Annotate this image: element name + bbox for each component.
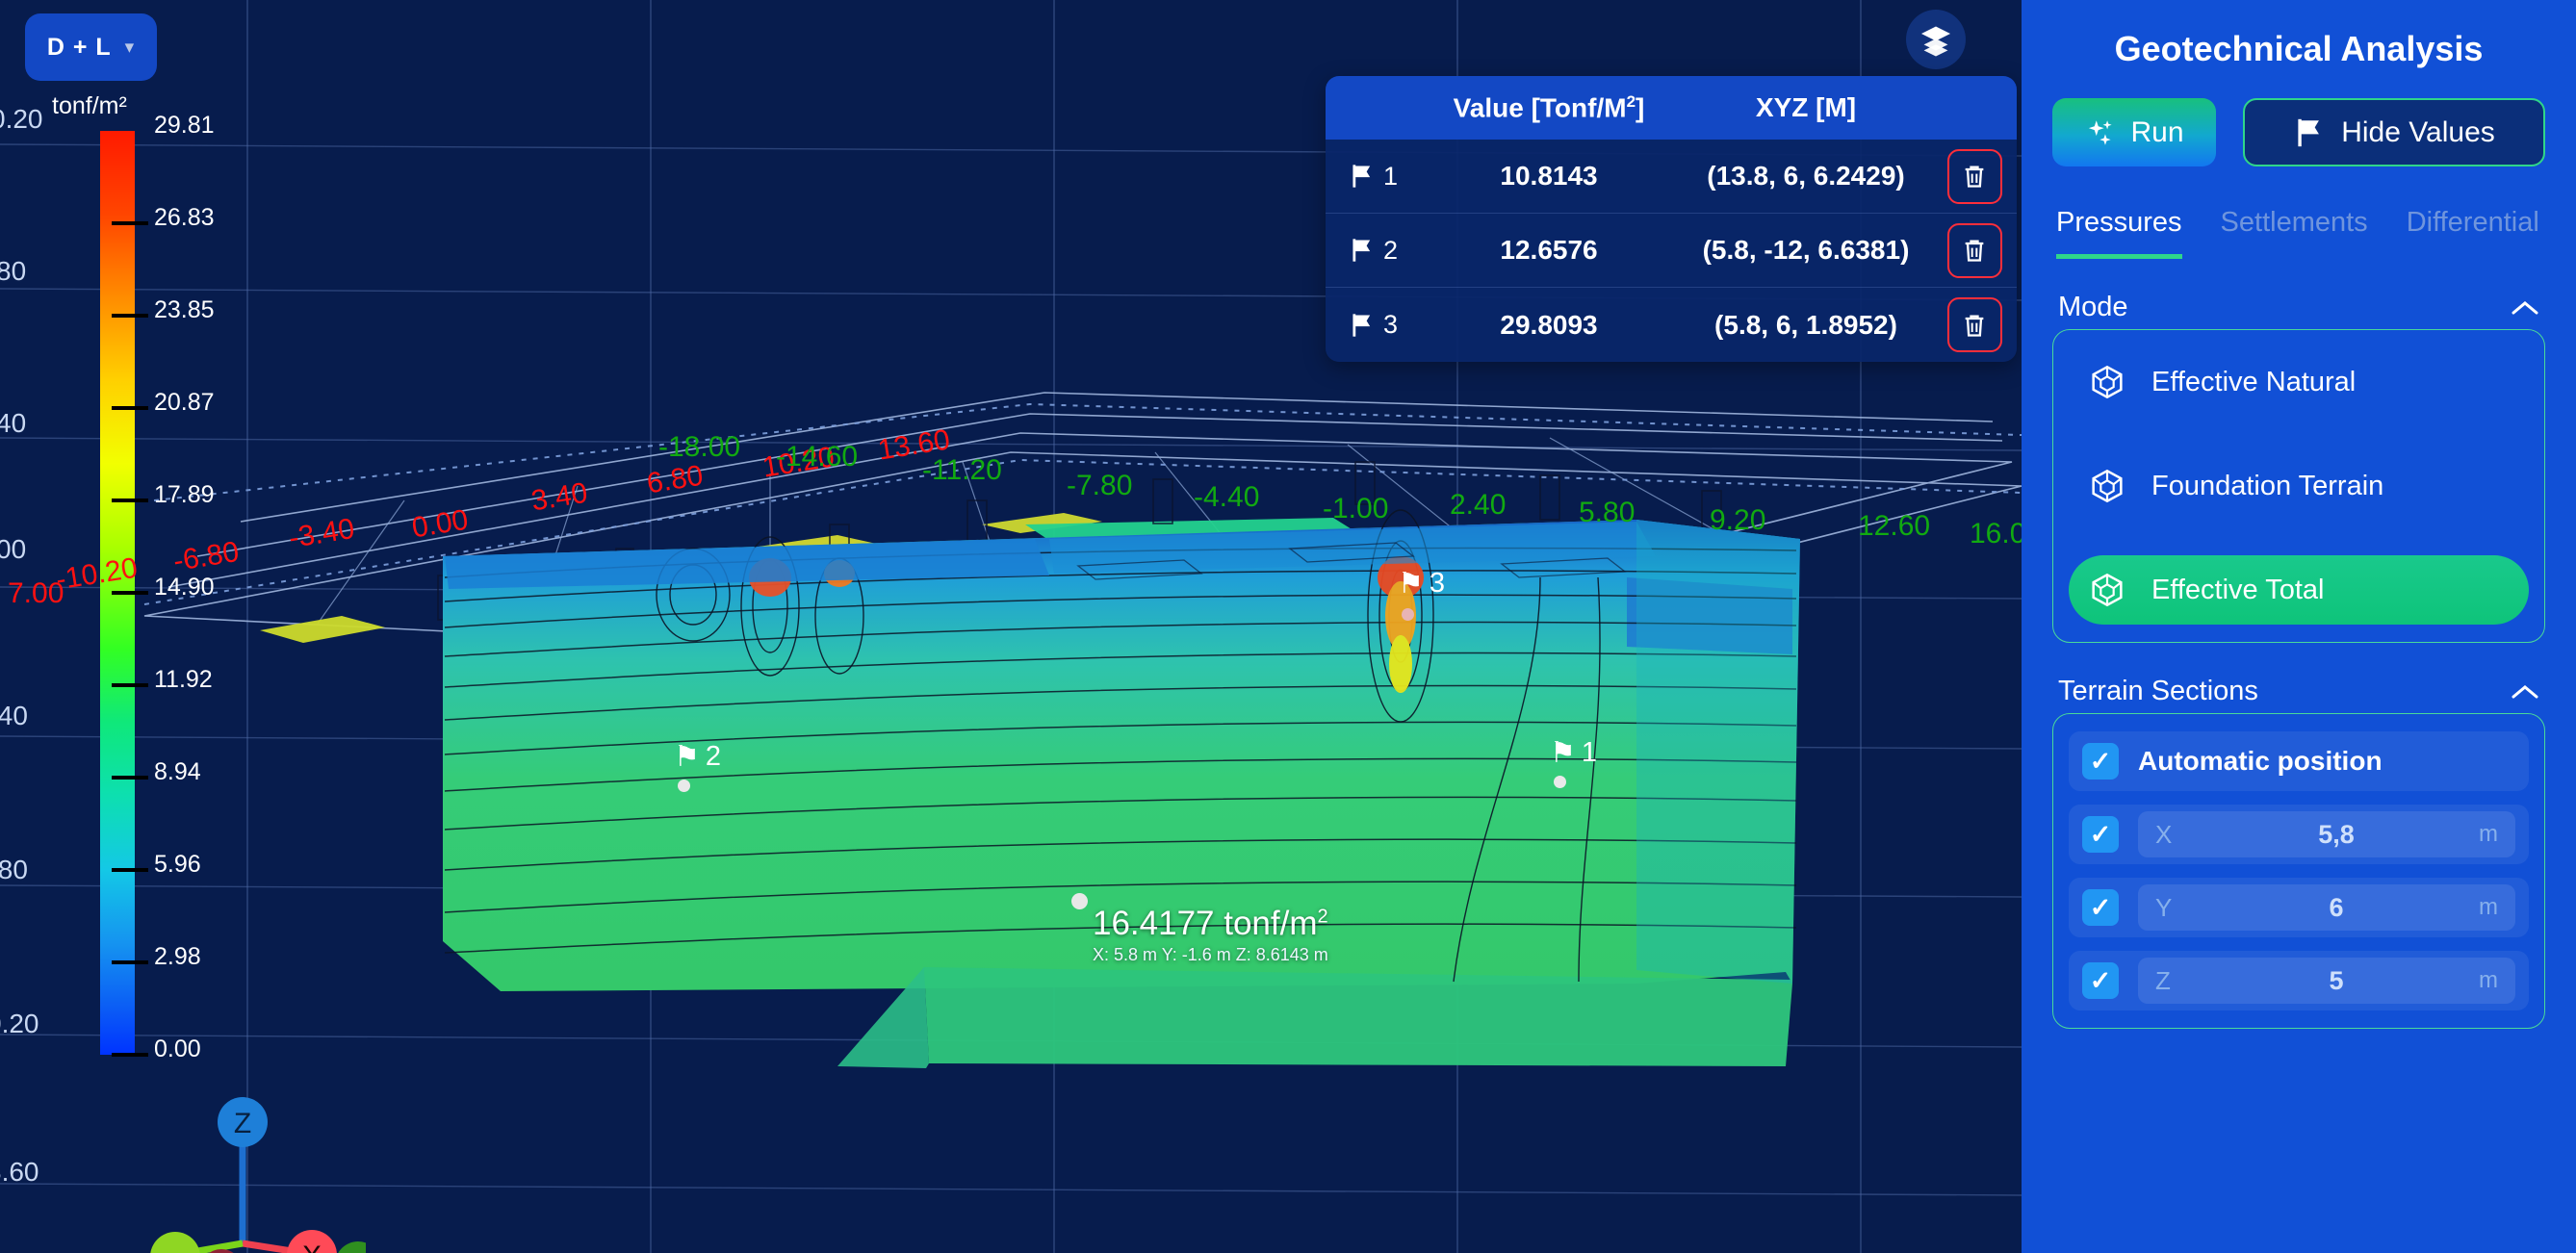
run-button-label: Run — [2130, 116, 2183, 149]
legend-tick-label: 8.94 — [154, 758, 201, 786]
axis-unit: m — [2450, 821, 2498, 848]
sidebar-panel: Geotechnical Analysis Run Hide Values Pr… — [2022, 0, 2576, 1253]
table-row[interactable]: 110.8143(13.8, 6, 6.2429) — [1326, 140, 2017, 214]
trash-icon — [1961, 312, 1988, 339]
app-root: D + L ▾ tonf/m² 29.8126.8323.8520.8717.8… — [0, 0, 2576, 1253]
delete-row-button[interactable] — [1947, 297, 2002, 352]
trash-icon — [1961, 237, 1988, 264]
legend-tick-label: 26.83 — [154, 204, 215, 232]
automatic-position-checkbox[interactable]: ✓ — [2082, 743, 2119, 780]
axis-y-tick-label: -1.00 — [1323, 493, 1388, 525]
axis-z-checkbox[interactable]: ✓ — [2082, 962, 2119, 999]
terrain-sections-header[interactable]: Terrain Sections — [2052, 676, 2545, 713]
axis-y-tick-label: 9.20 — [1710, 504, 1765, 537]
mode-option-foundation-terrain[interactable]: Foundation Terrain — [2069, 451, 2529, 521]
axis-value[interactable]: 5,8 — [2223, 820, 2450, 850]
axis-y-tick-label: -18.00 — [658, 431, 740, 464]
legend-tick-dash — [112, 683, 148, 687]
flag-icon: ⚑ — [1550, 739, 1576, 768]
row-xyz: (5.8, -12, 6.6381) — [1680, 235, 1932, 266]
scene-marker-point — [678, 780, 690, 792]
row-index: 1 — [1383, 162, 1398, 192]
color-legend: tonf/m² 29.8126.8323.8520.8717.8914.9011… — [39, 131, 231, 1093]
legend-tick-dash — [112, 314, 148, 318]
axis-z-tick-label: .40 — [0, 701, 28, 731]
mode-option-label: Effective Total — [2151, 575, 2324, 606]
axis-z-tick-label: 0.20 — [0, 1009, 39, 1039]
row-actions — [1932, 297, 2017, 352]
legend-tick-dash — [112, 960, 148, 964]
table-row[interactable]: 212.6576(5.8, -12, 6.6381) — [1326, 214, 2017, 288]
terrain-axis-row-y[interactable]: ✓Y6m — [2069, 878, 2529, 937]
axis-x-extra-label: 7.00 — [8, 577, 64, 610]
axis-value[interactable]: 6 — [2223, 893, 2450, 923]
chevron-up-icon[interactable] — [2511, 683, 2539, 701]
axis-x-field[interactable]: X5,8m — [2138, 811, 2515, 857]
scene-marker-point — [1402, 608, 1414, 621]
mode-option-label: Foundation Terrain — [2151, 471, 2383, 502]
axis-y-field[interactable]: Y6m — [2138, 884, 2515, 931]
legend-unit-label: tonf/m² — [52, 92, 127, 120]
page-title: Geotechnical Analysis — [2052, 29, 2545, 69]
action-button-row: Run Hide Values — [2052, 98, 2545, 166]
scene-marker-label: 2 — [706, 741, 721, 773]
legend-tick-label: 23.85 — [154, 296, 215, 324]
delete-row-button[interactable] — [1947, 223, 2002, 278]
legend-tick-dash — [112, 499, 148, 502]
check-icon: ✓ — [2090, 820, 2112, 850]
check-icon: ✓ — [2090, 893, 2112, 923]
terrain-axis-row-z[interactable]: ✓Z5m — [2069, 951, 2529, 1010]
run-button[interactable]: Run — [2052, 98, 2216, 166]
axis-z-tick-label: 0.20 — [0, 104, 43, 135]
legend-tick-dash — [112, 868, 148, 872]
terrain-axis-rows: ✓X5,8m✓Y6m✓Z5m — [2069, 805, 2529, 1010]
tab-pressures[interactable]: Pressures — [2056, 207, 2182, 259]
axis-label: Y — [2155, 893, 2223, 923]
layers-button[interactable] — [1906, 10, 1966, 69]
terrain-sections-body: ✓ Automatic position ✓X5,8m✓Y6m✓Z5m — [2052, 713, 2545, 1029]
axis-x-checkbox[interactable]: ✓ — [2082, 816, 2119, 853]
scene-marker-2[interactable]: ⚑ 2 — [674, 741, 721, 773]
axis-z-tick-label: 40 — [0, 408, 26, 439]
terrain-automatic-position-row[interactable]: ✓ Automatic position — [2069, 731, 2529, 791]
mode-options-list: Effective NaturalFoundation TerrainEffec… — [2052, 329, 2545, 643]
gizmo-negy-handle[interactable] — [150, 1232, 200, 1253]
table-row[interactable]: 329.8093(5.8, 6, 1.8952) — [1326, 288, 2017, 362]
gizmo-x-label: X — [302, 1240, 322, 1253]
scene-marker-1[interactable]: ⚑ 1 — [1550, 737, 1597, 769]
axis-label: X — [2155, 820, 2223, 850]
sparkles-icon — [2084, 116, 2117, 149]
mode-section: Mode Effective NaturalFoundation Terrain… — [2052, 292, 2545, 643]
axis-unit: m — [2450, 967, 2498, 994]
flag-icon: ⚑ — [674, 743, 700, 772]
axis-unit: m — [2450, 894, 2498, 921]
legend-tick-label: 14.90 — [154, 574, 215, 601]
tab-settlements[interactable]: Settlements — [2221, 207, 2368, 259]
axis-z-tick-label: 80 — [0, 256, 26, 287]
cube-icon — [2088, 571, 2126, 609]
legend-tick-label: 0.00 — [154, 1036, 201, 1063]
row-value: 12.6576 — [1418, 235, 1680, 266]
scene-marker-label: 1 — [1582, 737, 1597, 769]
check-icon: ✓ — [2090, 747, 2112, 777]
delete-row-button[interactable] — [1947, 149, 2002, 204]
axis-z-field[interactable]: Z5m — [2138, 958, 2515, 1004]
chevron-up-icon[interactable] — [2511, 299, 2539, 317]
axis-y-tick-label: 16.00 — [1970, 518, 2022, 550]
scene-marker-3[interactable]: ⚑ 3 — [1398, 568, 1445, 600]
row-index: 2 — [1383, 236, 1398, 266]
axis-y-tick-label: -4.40 — [1194, 481, 1259, 514]
row-flag-cell: 2 — [1326, 236, 1418, 266]
values-header-value-exp: 2 — [1627, 92, 1636, 111]
hide-values-button[interactable]: Hide Values — [2243, 98, 2545, 166]
mode-option-effective-total[interactable]: Effective Total — [2069, 555, 2529, 625]
axis-y-tick-label: 12.60 — [1858, 510, 1930, 543]
legend-tick-dash — [112, 776, 148, 780]
row-value: 29.8093 — [1418, 310, 1680, 341]
axis-z-tick-label: .80 — [0, 855, 28, 885]
values-table-header-value: Value [Tonf/M2] — [1418, 92, 1680, 123]
row-value: 10.8143 — [1418, 161, 1680, 192]
row-xyz: (5.8, 6, 1.8952) — [1680, 310, 1932, 341]
gizmo-z-label: Z — [234, 1108, 251, 1139]
mode-option-label: Effective Natural — [2151, 367, 2356, 398]
row-xyz: (13.8, 6, 6.2429) — [1680, 161, 1932, 192]
hide-values-button-label: Hide Values — [2341, 116, 2495, 149]
mode-section-header[interactable]: Mode — [2052, 292, 2545, 329]
legend-tick-dash — [112, 591, 148, 595]
axis-gizmo[interactable]: Z X Y — [116, 1082, 366, 1253]
axis-y-tick-label: -11.20 — [922, 454, 1002, 487]
legend-tick-label: 20.87 — [154, 389, 215, 417]
values-header-value-text: Value [Tonf/M — [1454, 92, 1627, 122]
legend-tick-dash — [112, 221, 148, 225]
row-index: 3 — [1383, 310, 1398, 340]
axis-z-tick-label: 00 — [0, 534, 26, 565]
legend-tick-label: 5.96 — [154, 851, 201, 879]
layers-icon — [1919, 22, 1953, 57]
axis-label: Z — [2155, 966, 2223, 996]
flag-icon: ⚑ — [1398, 570, 1424, 599]
row-actions — [1932, 149, 2017, 204]
mode-option-effective-natural[interactable]: Effective Natural — [2069, 347, 2529, 417]
flag-icon — [1349, 163, 1376, 190]
axis-y-checkbox[interactable]: ✓ — [2082, 889, 2119, 926]
legend-tick-label: 29.81 — [154, 112, 215, 140]
legend-tick-label: 17.89 — [154, 481, 215, 509]
cube-icon — [2088, 467, 2126, 505]
values-table-header: Value [Tonf/M2] XYZ [M] — [1326, 76, 2017, 140]
scene-marker-label: 3 — [1430, 568, 1445, 600]
values-table: Value [Tonf/M2] XYZ [M] 110.8143(13.8, 6… — [1326, 76, 2017, 362]
load-combination-label: D + L — [47, 34, 112, 62]
values-header-value-suffix: ] — [1636, 92, 1644, 122]
check-icon: ✓ — [2090, 966, 2112, 996]
legend-tick-label: 11.92 — [154, 666, 213, 694]
flag-icon — [1349, 237, 1376, 264]
axis-y-tick-label: -14.60 — [776, 441, 858, 473]
axis-z-tick-label: 3.60 — [0, 1157, 39, 1188]
axis-y-tick-label: 2.40 — [1450, 489, 1506, 522]
scene-marker-point — [1554, 776, 1566, 788]
row-actions — [1932, 223, 2017, 278]
cube-icon — [2088, 363, 2126, 401]
axis-y-tick-label: 5.80 — [1579, 497, 1635, 529]
legend-tick-dash — [112, 406, 148, 410]
terrain-axis-row-x[interactable]: ✓X5,8m — [2069, 805, 2529, 864]
axis-y-tick-label: -7.80 — [1067, 470, 1132, 502]
terrain-sections-section: Terrain Sections ✓ Automatic position ✓X… — [2052, 676, 2545, 1029]
automatic-position-label: Automatic position — [2138, 746, 2383, 777]
row-flag-cell: 1 — [1326, 162, 1418, 192]
legend-tick-label: 2.98 — [154, 943, 201, 971]
tab-differential[interactable]: Differential — [2407, 207, 2539, 259]
values-table-header-xyz: XYZ [M] — [1680, 92, 1932, 123]
tab-bar: PressuresSettlementsDifferential — [2052, 207, 2545, 259]
trash-icon — [1961, 163, 1988, 190]
flag-icon — [1349, 312, 1376, 339]
legend-tick-dash — [112, 1053, 148, 1057]
row-flag-cell: 3 — [1326, 310, 1418, 340]
terrain-sections-title: Terrain Sections — [2058, 676, 2258, 707]
chevron-down-icon: ▾ — [125, 37, 136, 59]
values-table-body: 110.8143(13.8, 6, 6.2429)212.6576(5.8, -… — [1326, 140, 2017, 362]
flag-icon — [2293, 116, 2326, 149]
load-combination-selector[interactable]: D + L ▾ — [25, 13, 157, 81]
axis-value[interactable]: 5 — [2223, 966, 2450, 996]
mode-section-title: Mode — [2058, 292, 2128, 323]
